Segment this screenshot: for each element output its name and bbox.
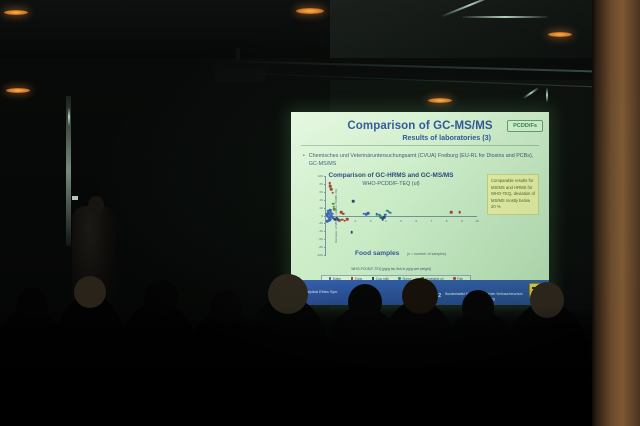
x-axis-tick: 6 (415, 219, 417, 223)
ceiling-downlight-icon (6, 88, 30, 93)
y-axis-tick: -100 (317, 253, 323, 257)
x-axis-tick: 9 (461, 219, 463, 223)
slide-bullet-text: Chemisches und Veterinäruntersuchungsamt… (309, 152, 537, 169)
audience-head (210, 290, 242, 324)
audience-head (462, 290, 494, 324)
bullet-marker-icon: • (303, 152, 305, 169)
data-point (350, 231, 353, 234)
data-point (346, 218, 349, 221)
data-point (333, 208, 336, 211)
slide-bullet: • Chemisches und Veterinäruntersuchungsa… (303, 152, 537, 169)
x-axis-tick: 7 (431, 219, 433, 223)
data-point (332, 191, 335, 194)
data-point (352, 200, 355, 203)
x-axis-tick: 2 (355, 219, 357, 223)
y-axis-tick: 40 (320, 198, 323, 202)
projection-screen: Comparison of GC-MS/MS Results of labora… (291, 112, 549, 305)
audience-head (348, 284, 382, 320)
door-light-strip (66, 96, 71, 246)
food-samples-label: Food samples (355, 250, 399, 257)
audience-member (244, 296, 330, 426)
audience-head (530, 282, 564, 318)
data-point (383, 216, 386, 219)
status-badge: PCDD/Fs (507, 120, 543, 132)
data-point (386, 209, 389, 212)
x-axis-tick: 8 (446, 219, 448, 223)
data-point (458, 211, 461, 214)
data-point (326, 220, 329, 223)
audience-head (16, 288, 48, 322)
ceiling-downlight-icon (4, 10, 28, 15)
data-point (450, 211, 453, 214)
title-divider (301, 145, 539, 146)
food-samples-note: (n = number of samples) (407, 252, 446, 256)
x-axis (325, 216, 477, 217)
ceiling-strip-light (462, 16, 548, 18)
x-axis-tick: 3 (370, 219, 372, 223)
y-axis-tick: 20 (320, 206, 323, 210)
slide-content: Comparison of GC-MS/MS Results of labora… (291, 112, 549, 305)
audience-head (74, 276, 106, 308)
y-axis-tick: 80 (320, 182, 323, 186)
data-point (379, 215, 382, 218)
data-point (367, 212, 370, 215)
ceiling-downlight-icon (296, 8, 324, 14)
ceiling-strip-light (546, 88, 548, 102)
ceiling-downlight-icon (428, 98, 452, 103)
right-wall (596, 0, 640, 426)
y-axis-tick: -60 (319, 237, 323, 241)
y-axis-tick: -40 (319, 229, 323, 233)
data-point (342, 212, 345, 215)
data-point (389, 211, 392, 214)
audience-head (402, 278, 438, 314)
y-axis-tick: -20 (319, 221, 323, 225)
presenter-head (88, 196, 104, 214)
callout-box: Comparable results for MS/MS and HRMS fo… (487, 174, 539, 215)
slide-subtitle: Results of laboratories (3) (291, 133, 491, 142)
data-point (331, 212, 334, 215)
audience-head (144, 280, 178, 316)
y-axis-tick: 0 (321, 214, 323, 218)
audience-head (268, 274, 308, 314)
y-axis-tick: -80 (319, 245, 323, 249)
audience-member (504, 302, 590, 426)
ceiling-downlight-icon (548, 32, 572, 37)
x-axis-tick: 5 (400, 219, 402, 223)
x-axis-tick: 4 (385, 219, 387, 223)
data-point (336, 218, 339, 221)
data-point (329, 209, 332, 212)
door-light-dot (72, 196, 78, 200)
x-axis-tick: 10 (475, 219, 478, 223)
scatter-chart: Comparison of GC-HRMS and GC-MS/MS WHO-P… (303, 172, 479, 277)
y-axis-tick: 60 (320, 190, 323, 194)
x-axis-label: WHO-PCDD/F-TEQ [pg/g fat, fish in pg/g w… (303, 267, 479, 271)
plot-area: Deviation of MS/MS relative HRMS (%) 100… (325, 176, 477, 255)
lecture-room-photo: Comparison of GC-MS/MS Results of labora… (0, 0, 640, 426)
y-axis-tick: 100 (318, 174, 323, 178)
